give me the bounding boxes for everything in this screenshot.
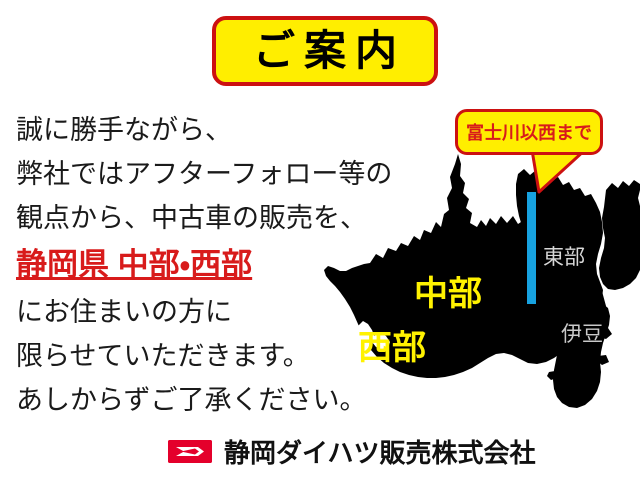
map-label-chubu: 中部 (414, 277, 482, 311)
footer: 静岡ダイハツ販売株式会社 (168, 433, 535, 470)
callout-bubble: 富士川以西まで (455, 109, 603, 155)
map-label-seibu: 西部 (358, 331, 426, 365)
fuji-river-divider-line (527, 192, 536, 304)
daihatsu-logo-icon (168, 440, 212, 463)
page-title: ご案内 (244, 30, 406, 72)
title-banner: ご案内 (212, 16, 438, 86)
callout-pointer-icon (495, 148, 585, 196)
map-label-izu: 伊豆 (561, 324, 603, 345)
map-label-tobu: 東部 (543, 247, 585, 268)
callout-tail (495, 148, 585, 196)
body-line-1: 誠に勝手ながら、 (16, 108, 356, 152)
callout-label: 富士川以西まで (466, 119, 592, 145)
notice-poster: ご案内 誠に勝手ながら、 弊社ではアフターフォロー等の 観点から、中古車の販売を… (0, 0, 640, 480)
company-name: 静岡ダイハツ販売株式会社 (224, 433, 535, 470)
